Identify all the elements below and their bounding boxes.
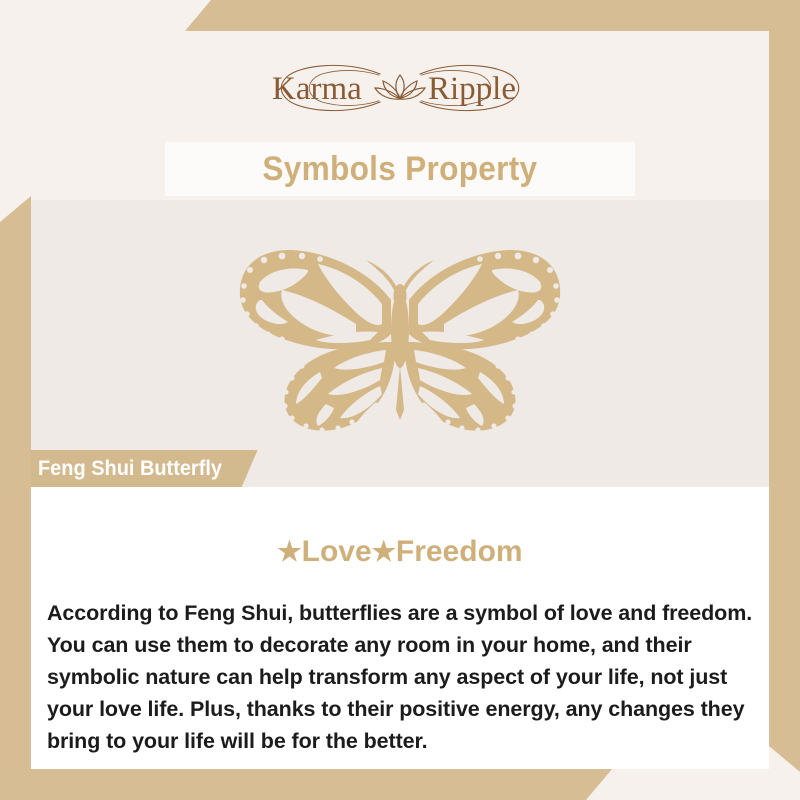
brand-logo: Karma Ripple xyxy=(31,48,769,128)
lotus-infinity-icon: Karma Ripple xyxy=(250,55,550,121)
promo-graphic: Karma Ripple Symbols Property xyxy=(0,0,800,800)
subtitle: ★Love★Freedom xyxy=(31,535,769,569)
illustration-panel xyxy=(31,200,769,490)
frame-band-top xyxy=(185,0,800,31)
frame-band-left xyxy=(0,196,31,800)
feng-shui-butterfly-tag: Feng Shui Butterfly xyxy=(31,450,258,487)
tag-label: Feng Shui Butterfly xyxy=(38,457,222,481)
inner-canvas: Karma Ripple Symbols Property xyxy=(31,31,769,769)
brand-name-left: Karma xyxy=(272,71,362,107)
feng-shui-butterfly-illustration xyxy=(230,238,570,453)
description-paragraph: According to Feng Shui, butterflies are … xyxy=(47,597,761,757)
page-title: Symbols Property xyxy=(262,150,537,189)
frame-band-bottom xyxy=(0,769,612,800)
description-panel: ★Love★Freedom According to Feng Shui, bu… xyxy=(31,487,769,769)
subtitle-word-freedom: Freedom xyxy=(396,535,523,568)
frame-band-right xyxy=(769,0,800,772)
star-icon-middle: ★ xyxy=(372,537,396,567)
title-band: Symbols Property xyxy=(165,142,635,196)
subtitle-word-love: Love xyxy=(302,535,372,568)
star-icon-left: ★ xyxy=(277,537,301,567)
brand-name-right: Ripple xyxy=(428,71,516,107)
